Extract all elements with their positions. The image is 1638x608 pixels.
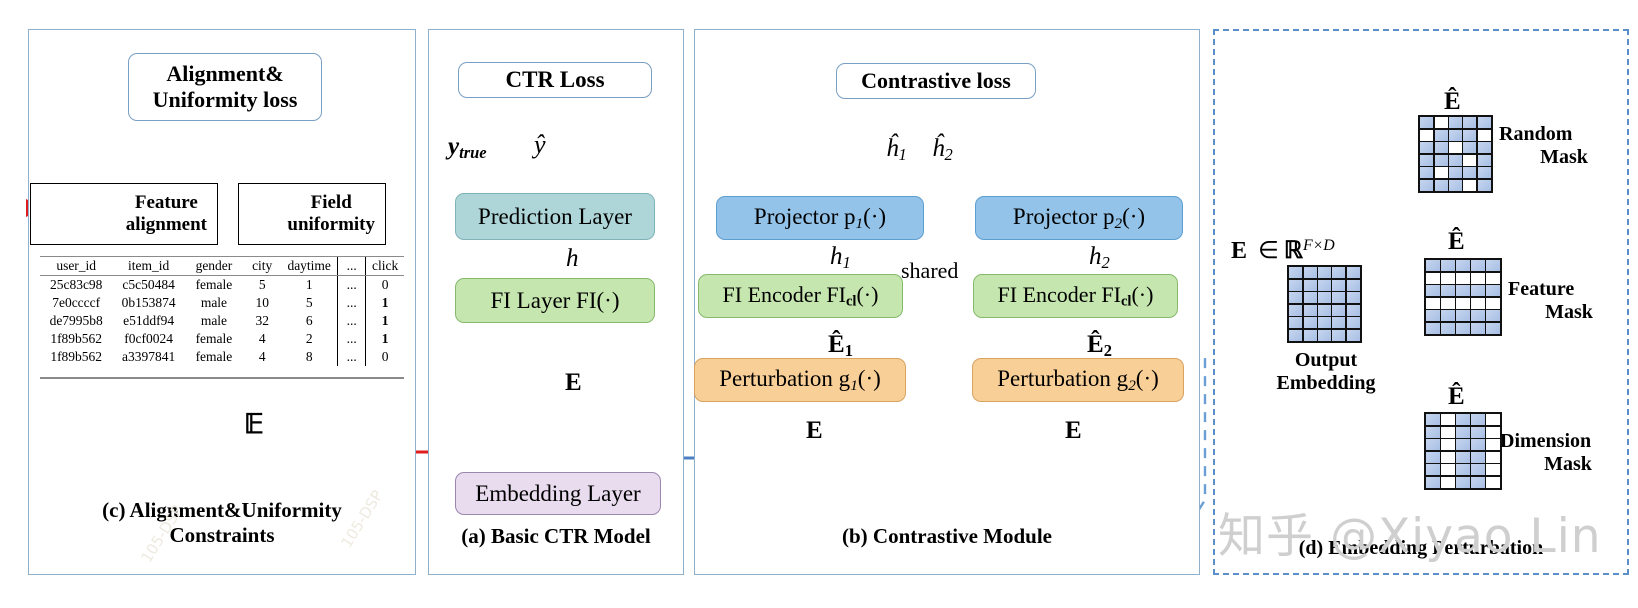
table-row: 25c83c98 c5c50484 female 5 1 ... 0 [40,276,404,295]
grid-cell [1426,464,1440,475]
grid-cell [1426,260,1440,271]
alignment-uniformity-loss-line2: Uniformity loss [153,87,298,113]
grid-cell [1456,298,1470,309]
col-header-user-id: user_id [40,257,112,276]
fi-layer-box: FI Layer FI(·) [455,278,655,323]
h2-hat-label: ĥ2 [932,135,953,165]
grid-cell [1456,439,1470,450]
cell-ellipsis: ... [338,276,366,295]
grid-cell [1304,305,1317,316]
grid-cell [1486,298,1500,309]
fi-layer-label: FI Layer FI(·) [490,288,619,314]
branch1-E-label: E [806,417,823,445]
grid-cell [1318,305,1331,316]
grid-cell [1426,273,1440,284]
feature-mask-label-line2: Mask [1508,301,1630,324]
col-header-city: city [243,257,281,276]
branch2-E-label: E [1065,417,1082,445]
grid-cell [1471,298,1485,309]
grid-cell [1304,330,1317,341]
grid-cell [1441,477,1455,488]
perturbation-1-box: Perturbation g1(·) [694,358,906,402]
embedding-space-label: E ∈ℝF×D [1231,236,1335,265]
cell-click: 1 [366,330,404,348]
grid-cell [1471,439,1485,450]
dimension-mask-label-line1: Dimension [1500,430,1636,453]
grid-cell [1449,142,1462,153]
cell-daytime: 5 [281,294,337,312]
grid-cell [1449,180,1462,191]
grid-cell [1435,142,1448,153]
cell-click: 1 [366,312,404,330]
grid-cell [1289,267,1302,278]
grid-cell [1478,155,1491,166]
grid-cell [1441,323,1455,334]
grid-cell [1304,267,1317,278]
grid-cell [1435,180,1448,191]
cell-gender: female [185,276,243,295]
grid-cell [1318,280,1331,291]
grid-cell [1435,117,1448,128]
grid-cell [1332,330,1345,341]
grid-cell [1456,477,1470,488]
grid-cell [1426,310,1440,321]
fi-encoder-2-label: FI Encoder FIcl(·) [998,282,1154,311]
cell-gender: female [185,330,243,348]
E2-hat-label: Ê2 [1087,331,1112,361]
grid-cell [1456,260,1470,271]
table-row: 1f89b562 a3397841 female 4 8 ... 0 [40,348,404,366]
cell-click: 0 [366,348,404,366]
projector-1-box: Projector p1(·) [716,196,924,240]
grid-cell [1441,273,1455,284]
grid-cell [1463,142,1476,153]
cell-user-id: 25c83c98 [40,276,112,295]
grid-cell [1289,292,1302,303]
table-row: 7e0ccccf 0b153874 male 10 5 ... 1 [40,294,404,312]
grid-cell [1471,464,1485,475]
table-row: de7995b8 e51ddf94 male 32 6 ... 1 [40,312,404,330]
col-header-daytime: daytime [281,257,337,276]
cell-user-id: 1f89b562 [40,348,112,366]
grid-cell [1289,280,1302,291]
perturbation-2-box: Perturbation g2(·) [972,358,1184,402]
grid-cell [1456,414,1470,425]
prediction-layer-label: Prediction Layer [478,204,632,230]
grid-cell [1471,260,1485,271]
grid-cell [1420,167,1433,178]
grid-cell [1289,305,1302,316]
grid-cell [1478,167,1491,178]
grid-cell [1304,317,1317,328]
cell-item-id: 0b153874 [112,294,184,312]
projector-1-label: Projector p1(·) [754,204,886,233]
perturbation-2-label: Perturbation g2(·) [997,366,1159,395]
grid-cell [1332,317,1345,328]
grid-cell [1347,280,1360,291]
random-mask-grid [1418,115,1493,193]
dimension-mask-grid [1424,412,1502,490]
embedding-layer-label: Embedding Layer [475,481,640,507]
grid-cell [1426,477,1440,488]
grid-cell [1449,155,1462,166]
h2-label: h2 [1089,243,1110,273]
grid-cell [1486,273,1500,284]
grid-cell [1318,267,1331,278]
random-mask-E-hat-label: Ê [1444,88,1461,116]
alignment-uniformity-loss-box: Alignment& Uniformity loss [128,53,322,121]
ctr-loss-label: CTR Loss [505,67,604,93]
output-embedding-label-line2: Embedding [1262,372,1390,395]
feature-mask-grid [1424,258,1502,336]
grid-cell [1456,273,1470,284]
grid-cell [1435,130,1448,141]
panel-a-caption: (a) Basic CTR Model [428,524,684,549]
cell-gender: male [185,294,243,312]
feature-mask-label-line1: Feature [1508,278,1630,301]
grid-cell [1420,180,1433,191]
output-embedding-label-line1: Output [1262,349,1390,372]
feature-alignment-box: Feature alignment [30,183,218,245]
grid-cell [1463,167,1476,178]
field-uniformity-box: Field uniformity [238,183,386,245]
grid-cell [1486,464,1500,475]
grid-cell [1347,267,1360,278]
grid-cell [1456,427,1470,438]
grid-cell [1426,439,1440,450]
panel-c-embedding-symbol-label: 𝔼 [244,409,264,440]
cell-click: 0 [366,276,404,295]
grid-cell [1471,452,1485,463]
grid-cell [1471,323,1485,334]
grid-cell [1486,452,1500,463]
grid-cell [1471,477,1485,488]
cell-city: 4 [243,330,281,348]
grid-cell [1347,317,1360,328]
col-header-gender: gender [185,257,243,276]
cell-user-id: 1f89b562 [40,330,112,348]
fi-encoder-1-box: FI Encoder FIcl(·) [698,274,903,318]
field-uniformity-line1: Field [287,192,375,214]
grid-cell [1318,330,1331,341]
grid-cell [1441,260,1455,271]
col-header-ellipsis: ... [338,257,366,276]
random-mask-label-line2: Mask [1499,146,1629,169]
projector-2-box: Projector p2(·) [975,196,1183,240]
grid-cell [1441,298,1455,309]
grid-cell [1486,323,1500,334]
grid-cell [1332,267,1345,278]
grid-cell [1441,464,1455,475]
cell-click: 1 [366,294,404,312]
grid-cell [1478,142,1491,153]
h-label: h [566,245,579,273]
grid-cell [1441,414,1455,425]
grid-cell [1471,285,1485,296]
grid-cell [1449,130,1462,141]
grid-cell [1471,273,1485,284]
random-mask-label-line1: Random [1499,123,1629,146]
grid-cell [1426,452,1440,463]
shared-label: shared [901,258,958,284]
output-embedding-label: Output Embedding [1262,349,1390,395]
grid-cell [1426,298,1440,309]
grid-cell [1463,130,1476,141]
cell-city: 5 [243,276,281,295]
grid-cell [1456,452,1470,463]
feature-mask-E-hat-label: Ê [1448,228,1465,256]
grid-cell [1449,167,1462,178]
grid-cell [1318,317,1331,328]
grid-cell [1318,292,1331,303]
watermark: 知乎 @Xiyao Lin [1218,497,1602,566]
perturbation-1-label: Perturbation g1(·) [719,366,881,395]
grid-cell [1463,117,1476,128]
feature-alignment-line2: alignment [126,214,207,236]
cell-item-id: f0cf0024 [112,330,184,348]
cell-daytime: 8 [281,348,337,366]
grid-cell [1347,330,1360,341]
cell-gender: female [185,348,243,366]
grid-cell [1435,155,1448,166]
cell-ellipsis: ... [338,312,366,330]
grid-cell [1478,180,1491,191]
dimension-mask-label-line2: Mask [1500,453,1636,476]
col-header-click: click [366,257,404,276]
feature-data-table: user_id item_id gender city daytime ... … [40,256,404,366]
panel-b-caption: (b) Contrastive Module [694,524,1200,549]
cell-user-id: 7e0ccccf [40,294,112,312]
contrastive-loss-label: Contrastive loss [861,68,1011,94]
fi-encoder-2-box: FI Encoder FIcl(·) [973,274,1178,318]
grid-cell [1332,280,1345,291]
grid-cell [1449,117,1462,128]
grid-cell [1420,142,1433,153]
col-header-item-id: item_id [112,257,184,276]
grid-cell [1441,285,1455,296]
grid-cell [1289,317,1302,328]
grid-cell [1426,427,1440,438]
grid-cell [1471,414,1485,425]
h1-hat-label: ĥ1 [886,135,907,165]
cell-item-id: c5c50484 [112,276,184,295]
grid-cell [1426,285,1440,296]
panel-a-E-label: E [565,369,582,397]
table-row: 1f89b562 f0cf0024 female 4 2 ... 1 [40,330,404,348]
grid-cell [1332,305,1345,316]
cell-daytime: 2 [281,330,337,348]
grid-cell [1441,310,1455,321]
grid-cell [1478,117,1491,128]
fi-encoder-1-label: FI Encoder FIcl(·) [723,282,879,311]
projector-2-label: Projector p2(·) [1013,204,1145,233]
grid-cell [1478,130,1491,141]
cell-city: 4 [243,348,281,366]
grid-cell [1426,323,1440,334]
grid-cell [1456,464,1470,475]
cell-gender: male [185,312,243,330]
cell-ellipsis: ... [338,348,366,366]
cell-user-id: de7995b8 [40,312,112,330]
prediction-layer-box: Prediction Layer [455,193,655,240]
grid-cell [1347,305,1360,316]
feature-alignment-line1: Feature [126,192,207,214]
cell-item-id: e51ddf94 [112,312,184,330]
figure-canvas: Alignment& Uniformity loss Feature align… [0,0,1638,608]
cell-ellipsis: ... [338,330,366,348]
grid-cell [1463,180,1476,191]
grid-cell [1435,167,1448,178]
cell-daytime: 6 [281,312,337,330]
grid-cell [1486,260,1500,271]
grid-cell [1456,323,1470,334]
grid-cell [1426,414,1440,425]
h1-label: h1 [830,243,851,273]
dimension-mask-label: Dimension Mask [1500,430,1636,476]
grid-cell [1486,427,1500,438]
cell-ellipsis: ... [338,294,366,312]
grid-cell [1441,439,1455,450]
grid-cell [1420,117,1433,128]
grid-cell [1420,155,1433,166]
output-embedding-grid [1287,265,1362,343]
grid-cell [1441,427,1455,438]
grid-cell [1463,155,1476,166]
grid-cell [1347,292,1360,303]
grid-cell [1486,439,1500,450]
grid-cell [1471,427,1485,438]
cell-daytime: 1 [281,276,337,295]
grid-cell [1332,292,1345,303]
E1-hat-label: Ê1 [828,331,853,361]
ctr-loss-box: CTR Loss [458,62,652,98]
cell-city: 10 [243,294,281,312]
grid-cell [1486,414,1500,425]
field-uniformity-line2: uniformity [287,214,375,236]
grid-cell [1486,477,1500,488]
cell-item-id: a3397841 [112,348,184,366]
random-mask-label: Random Mask [1499,123,1629,169]
grid-cell [1420,130,1433,141]
cell-city: 32 [243,312,281,330]
alignment-uniformity-loss-line1: Alignment& [166,61,283,87]
grid-cell [1486,285,1500,296]
grid-cell [1441,452,1455,463]
grid-cell [1304,280,1317,291]
y-true-label: ytrue [448,133,487,163]
grid-cell [1304,292,1317,303]
table-bottom-rule [40,377,404,379]
y-hat-label: ŷ [534,130,546,160]
grid-cell [1456,310,1470,321]
table-header-row: user_id item_id gender city daytime ... … [40,257,404,276]
embedding-layer-box: Embedding Layer [455,472,661,515]
dimension-mask-E-hat-label: Ê [1448,383,1465,411]
contrastive-loss-box: Contrastive loss [836,63,1036,99]
grid-cell [1486,310,1500,321]
grid-cell [1456,285,1470,296]
grid-cell [1289,330,1302,341]
grid-cell [1471,310,1485,321]
feature-mask-label: Feature Mask [1508,278,1630,324]
